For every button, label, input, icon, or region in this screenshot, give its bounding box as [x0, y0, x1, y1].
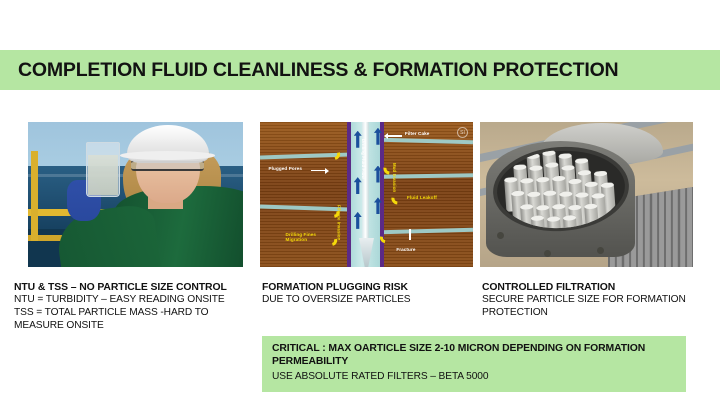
label-filtrate-invasion: Filtrate Invasion [337, 205, 342, 240]
vessel-bolt [544, 250, 551, 257]
caption-right: CONTROLLED FILTRATION SECURE PARTICLE SI… [482, 281, 694, 320]
caption-middle: FORMATION PLUGGING RISK DUE TO OVERSIZE … [262, 281, 474, 307]
label-plugged-pores: Plugged Pores [269, 166, 302, 171]
slide-canvas: COMPLETION FLUID CLEANLINESS & FORMATION… [0, 0, 720, 405]
diagram-wellbore: Filter Cake Plugged Pores Drilling Fluid… [260, 122, 473, 267]
leader-line [409, 229, 411, 240]
callout-body: USE ABSOLUTE RATED FILTERS – BETA 5000 [272, 370, 676, 383]
label-drilling-fluid-flow: Drilling Fluid Flow [361, 139, 366, 179]
filter-cake-right [380, 122, 384, 267]
caption-right-line-1: SECURE PARTICLE SIZE FOR FORMATION PROTE… [482, 294, 694, 320]
handrail-post [31, 151, 38, 241]
leader-line [311, 170, 325, 172]
caption-right-heading: CONTROLLED FILTRATION [482, 281, 694, 294]
watermark-badge: SI [457, 127, 468, 138]
leader-line [388, 135, 402, 137]
title-banner: COMPLETION FLUID CLEANLINESS & FORMATION… [0, 50, 720, 90]
critical-callout-box: CRITICAL : MAX OARTICLE SIZE 2-10 MICRON… [262, 336, 686, 392]
caption-left-line-2: TSS = TOTAL PARTICLE MASS -HARD TO MEASU… [14, 307, 250, 333]
caption-middle-heading: FORMATION PLUGGING RISK [262, 281, 474, 294]
photo-filter-vessel [480, 122, 693, 267]
callout-heading: CRITICAL : MAX OARTICLE SIZE 2-10 MICRON… [272, 342, 676, 369]
page-title: COMPLETION FLUID CLEANLINESS & FORMATION… [0, 59, 618, 82]
label-fluid-leakoff: Fluid Leakoff [407, 195, 437, 200]
photo-fluid-sample [28, 122, 243, 267]
filter-cake-left [347, 122, 351, 267]
caption-left-heading: NTU & TSS – NO PARTICLE SIZE CONTROL [14, 281, 250, 294]
label-fracture: Fracture [396, 247, 415, 252]
fluid-sample-beaker [86, 142, 120, 197]
hard-hat-brim [120, 151, 215, 160]
label-filter-cake: Filter Cake [405, 131, 430, 136]
caption-left: NTU & TSS – NO PARTICLE SIZE CONTROL NTU… [14, 281, 250, 333]
vessel-bolt [597, 247, 604, 254]
caption-left-line-1: NTU = TURBIDITY – EASY READING ONSITE [14, 294, 250, 307]
label-drilling-fines-migration: Drilling Fines Migration [286, 232, 328, 243]
caption-middle-line-1: DUE TO OVERSIZE PARTICLES [262, 294, 474, 307]
label-mud-invasion: Mud Invasion [392, 163, 397, 192]
